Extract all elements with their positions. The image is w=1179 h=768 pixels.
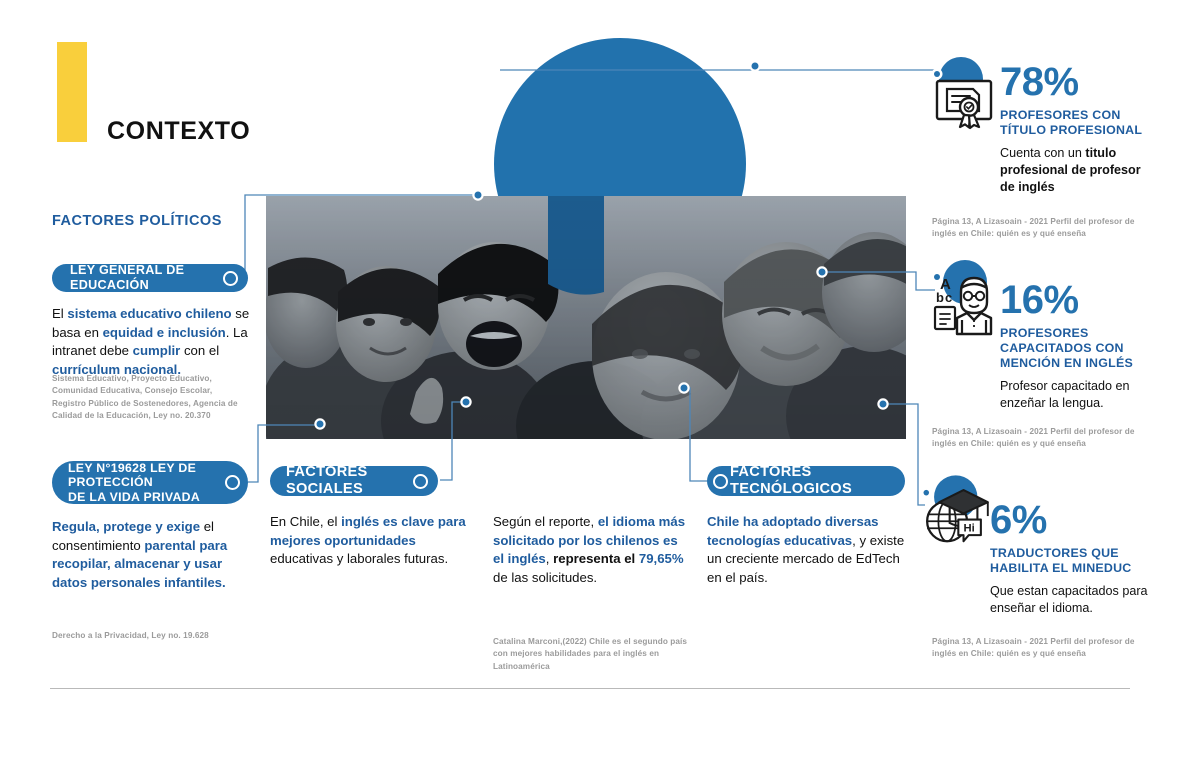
svg-text:c: c: [945, 290, 952, 305]
paragraph-ley-general: El sistema educativo chileno se basa en …: [52, 305, 252, 380]
txt: Cuenta con un: [1000, 146, 1085, 160]
connector-ring-icon: [713, 474, 728, 489]
txt: ,: [546, 551, 553, 566]
stat-description: Que estan capacitados para enseñar el id…: [990, 583, 1150, 617]
yellow-accent-bar: [57, 42, 87, 142]
stat-value: 78%: [1000, 62, 1150, 102]
stat-value: 16%: [1000, 280, 1150, 320]
certificate-seal-icon: [925, 55, 1003, 135]
stat-value: 6%: [990, 500, 1150, 540]
paragraph-tecnologicos: Chile ha adoptado diversas tecnologías e…: [707, 513, 909, 588]
connector-ring-icon: [413, 474, 428, 489]
section-label-factores-politicos: FACTORES POLÍTICOS: [52, 213, 222, 229]
infographic-canvas: CONTEXTO: [0, 0, 1179, 768]
txt: En Chile, el: [270, 514, 341, 529]
stat-heading: PROFESORES CON TÍTULO PROFESIONAL: [1000, 108, 1150, 138]
stat-block-78: 78% PROFESORES CON TÍTULO PROFESIONAL Cu…: [1000, 62, 1150, 195]
txt: Según el reporte,: [493, 514, 598, 529]
txt: El: [52, 306, 67, 321]
citation-marconi: Catalina Marconi,(2022) Chile es el segu…: [493, 636, 703, 673]
paragraph-idioma-mas-solicitado: Según el reporte, el idioma más solicita…: [493, 513, 691, 588]
txt-bold: Regula, protege y exige: [52, 519, 200, 534]
stat-heading: TRADUCTORES QUE HABILITA EL MINEDUC: [990, 546, 1150, 576]
stat-description: Profesor capacitado en enzeñar la lengua…: [1000, 378, 1150, 412]
txt-bold: sistema educativo chileno: [67, 306, 231, 321]
pill-ley-proteccion-vida-privada[interactable]: LEY N°19628 LEY DE PROTECCIÓN DE LA VIDA…: [52, 461, 248, 504]
stat-block-16: 16% PROFESORES CAPACITADOS CON MENCIÓN E…: [1000, 280, 1150, 411]
stat-block-6: 6% TRADUCTORES QUE HABILITA EL MINEDUC Q…: [990, 500, 1150, 617]
citation-stat-6: Página 13, A Lizasoain - 2021 Perfil del…: [932, 636, 1138, 661]
txt: Profesor capacitado en enzeñar la lengua…: [1000, 379, 1130, 410]
citation-politicos: Sistema Educativo, Proyecto Educativo, C…: [52, 373, 242, 422]
paragraph-privacidad: Regula, protege y exige el consentimient…: [52, 518, 248, 593]
connector-ring-icon: [225, 475, 240, 490]
stat-description: Cuenta con un titulo profesional de prof…: [1000, 145, 1150, 196]
pill-tecnologicos-label: FACTORES TECNÓLOGICOS: [730, 464, 891, 498]
pill-sociales-label: FACTORES SOCIALES: [286, 464, 413, 498]
txt: con el: [180, 343, 219, 358]
globe-graduation-hi-icon: Hi: [915, 470, 993, 550]
pill-factores-tecnologicos[interactable]: FACTORES TECNÓLOGICOS: [707, 466, 905, 496]
page-title: CONTEXTO: [107, 117, 250, 146]
txt-bold: equidad e inclusión: [103, 325, 226, 340]
bottom-divider: [50, 688, 1130, 689]
pill-ley-general-label: LEY GENERAL DE EDUCACIÓN: [70, 263, 223, 293]
txt-bold-black: representa el: [553, 551, 639, 566]
stat-heading: PROFESORES CAPACITADOS CON MENCIÓN EN IN…: [1000, 326, 1150, 371]
txt: de las solicitudes.: [493, 570, 597, 585]
txt: Que estan capacitados para enseñar el id…: [990, 584, 1148, 615]
connector-ring-icon: [223, 271, 238, 286]
pill-privacidad-label: LEY N°19628 LEY DE PROTECCIÓN DE LA VIDA…: [68, 461, 225, 505]
paragraph-sociales: En Chile, el inglés es clave para mejore…: [270, 513, 470, 569]
txt: educativas y laborales futuras.: [270, 551, 448, 566]
txt-bold: 79,65%: [639, 551, 684, 566]
svg-text:Hi: Hi: [964, 523, 975, 535]
citation-privacidad: Derecho a la Privacidad, Ley no. 19.628: [52, 630, 282, 642]
pill-factores-sociales[interactable]: FACTORES SOCIALES: [270, 466, 438, 496]
citation-stat-78: Página 13, A Lizasoain - 2021 Perfil del…: [932, 216, 1138, 241]
teacher-abc-icon: A b c: [925, 258, 1003, 338]
photo-tint: [266, 196, 906, 439]
svg-text:b: b: [936, 290, 944, 305]
pill-ley-general-educacion[interactable]: LEY GENERAL DE EDUCACIÓN: [52, 264, 248, 292]
citation-stat-16: Página 13, A Lizasoain - 2021 Perfil del…: [932, 426, 1138, 451]
photo-children-group: [266, 196, 906, 439]
txt-bold: cumplir: [133, 343, 181, 358]
